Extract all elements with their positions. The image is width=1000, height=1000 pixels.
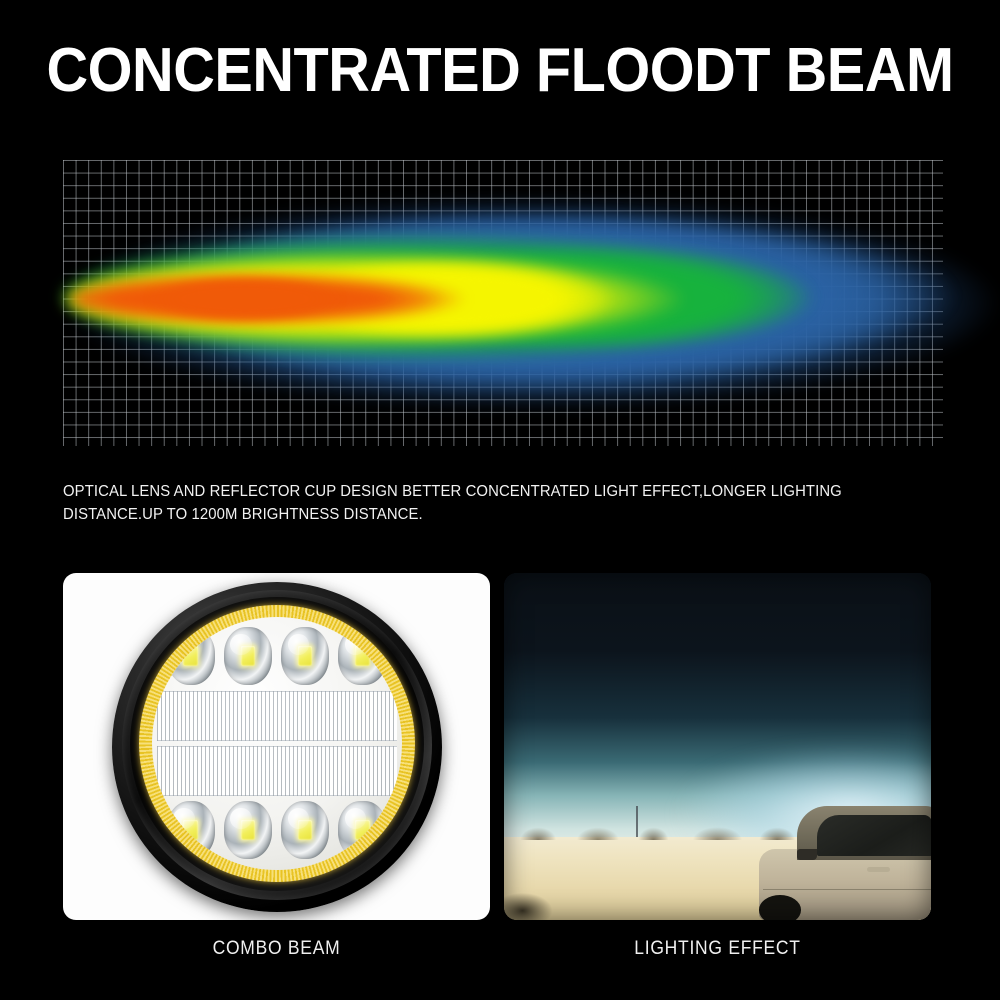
led-chip <box>298 820 313 840</box>
reflector-cup <box>281 627 329 685</box>
product-feature-page: CONCENTRATED FLOODT BEAM OPTICAL LENS AN… <box>0 0 1000 1000</box>
reflector-cup <box>338 801 386 859</box>
vehicle-mirror <box>797 849 816 860</box>
led-chip <box>355 820 370 840</box>
lens-flute-band <box>157 691 397 741</box>
vehicle-suv <box>747 806 931 921</box>
reflector-cup <box>167 801 215 859</box>
reflector-cup <box>167 627 215 685</box>
led-row-top <box>167 627 387 685</box>
led-chip <box>355 646 370 666</box>
feature-description: OPTICAL LENS AND REFLECTOR CUP DESIGN BE… <box>63 480 912 526</box>
reflector-cup <box>281 801 329 859</box>
led-row-bottom <box>167 801 387 859</box>
reflector-cup <box>224 801 272 859</box>
lamp-lens-face <box>152 617 402 870</box>
vehicle-body-line <box>763 889 931 891</box>
beam-grid <box>63 160 943 446</box>
caption-combo-beam: COMBO BEAM <box>80 938 473 960</box>
reflector-cup <box>224 627 272 685</box>
caption-lighting-effect: LIGHTING EFFECT <box>521 938 914 960</box>
beam-pattern-diagram <box>63 160 943 446</box>
led-chip <box>183 820 198 840</box>
reflector-cup <box>338 627 386 685</box>
led-chip <box>241 820 256 840</box>
page-title: CONCENTRATED FLOODT BEAM <box>35 40 965 102</box>
vehicle-wheel <box>759 895 801 920</box>
utility-pole <box>636 806 638 837</box>
photo-panel-lighting-effect <box>504 573 931 920</box>
led-chip <box>183 646 198 666</box>
foreground-rock <box>504 889 564 920</box>
led-lamp-image <box>112 582 442 912</box>
night-scene-image <box>504 573 931 920</box>
photo-panel-combo-beam <box>63 573 490 920</box>
led-chip <box>241 646 256 666</box>
vehicle-door-handle <box>867 867 890 872</box>
led-chip <box>298 646 313 666</box>
lens-flute-band <box>157 746 397 796</box>
vehicle-window <box>817 815 931 856</box>
